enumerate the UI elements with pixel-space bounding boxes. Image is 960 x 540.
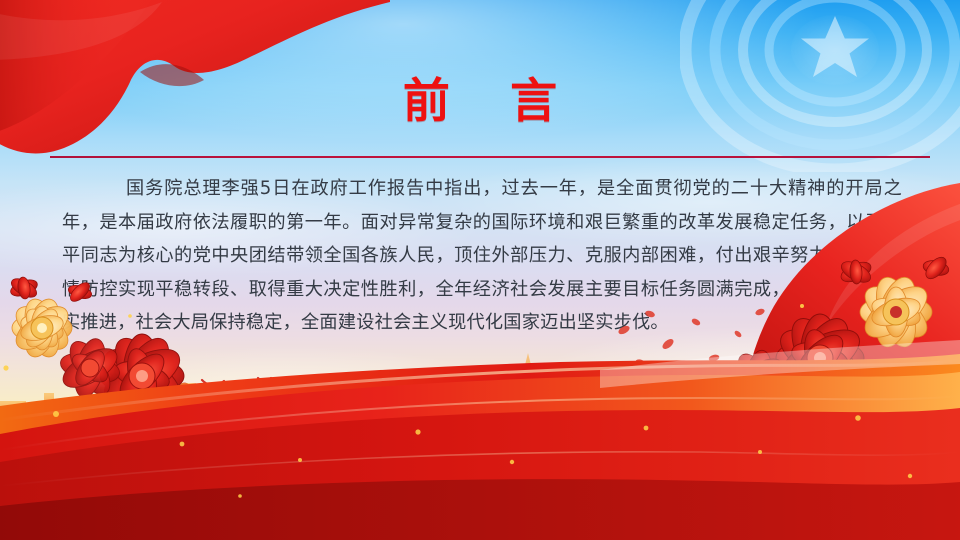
red-ribbon-waves	[0, 310, 960, 540]
page-title-wrap: 前 言	[0, 78, 960, 125]
page-title: 前 言	[381, 78, 579, 125]
title-divider	[50, 156, 930, 158]
slide-canvas: 前 言 国务院总理李强5日在政府工作报告中指出，过去一年，是全面贯彻党的二十大精…	[0, 0, 960, 540]
